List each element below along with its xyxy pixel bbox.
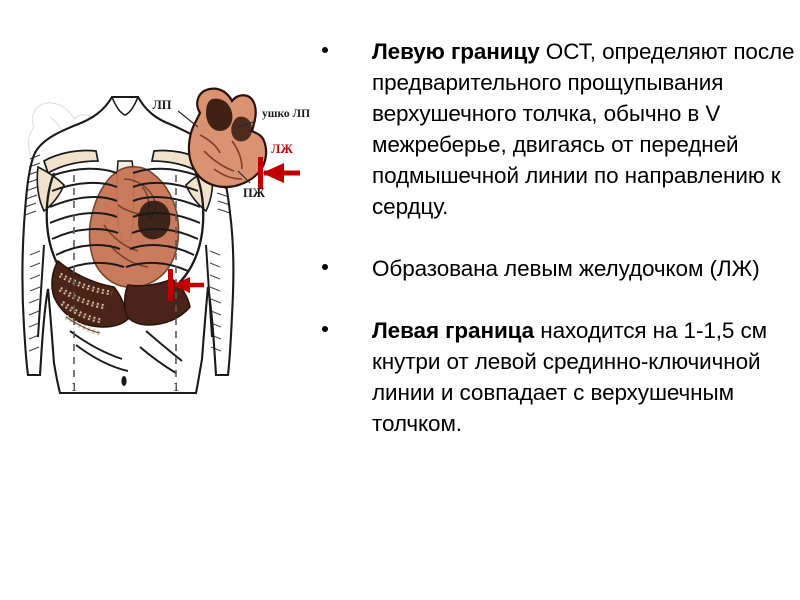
bullet-1-lead: Левую границу bbox=[372, 39, 540, 64]
inset-label-pzh: ПЖ bbox=[243, 186, 266, 200]
bullet-list: Левую границу ОСТ, определяют после пред… bbox=[316, 36, 800, 576]
list-item: Левую границу ОСТ, определяют после пред… bbox=[316, 36, 800, 222]
cardiac-borders-anatomy-diagram: 1 1 bbox=[0, 75, 320, 405]
anatomy-svg: 1 1 bbox=[0, 75, 320, 405]
umbilicus-mark bbox=[121, 376, 126, 386]
slide-canvas: 1 1 bbox=[0, 0, 800, 600]
bullet-3-lead: Левая граница bbox=[372, 318, 534, 343]
spacer-1 bbox=[316, 222, 800, 253]
list-item: Образована левым желудочком (ЛЖ) bbox=[316, 253, 800, 284]
inset-label-lzh: ЛЖ bbox=[271, 142, 293, 156]
torso-label-1-left: 1 bbox=[71, 379, 78, 394]
list-item: Левая граница находится на 1-1,5 см кнут… bbox=[316, 315, 800, 439]
bullet-2-rest: Образована левым желудочком (ЛЖ) bbox=[372, 256, 760, 281]
bullet-dot-icon bbox=[322, 264, 328, 270]
bullet-dot-icon bbox=[322, 326, 328, 332]
heart-inset-body bbox=[189, 89, 266, 187]
inset-label-lp: ЛП bbox=[152, 98, 171, 112]
bullet-1-rest: ОСТ, определяют после предварительного п… bbox=[372, 39, 794, 219]
bullet-dot-icon bbox=[322, 47, 328, 53]
torso-label-1-right: 1 bbox=[173, 379, 180, 394]
spacer-2 bbox=[316, 284, 800, 315]
inset-label-ushko-lp: ушко ЛП bbox=[262, 108, 310, 120]
